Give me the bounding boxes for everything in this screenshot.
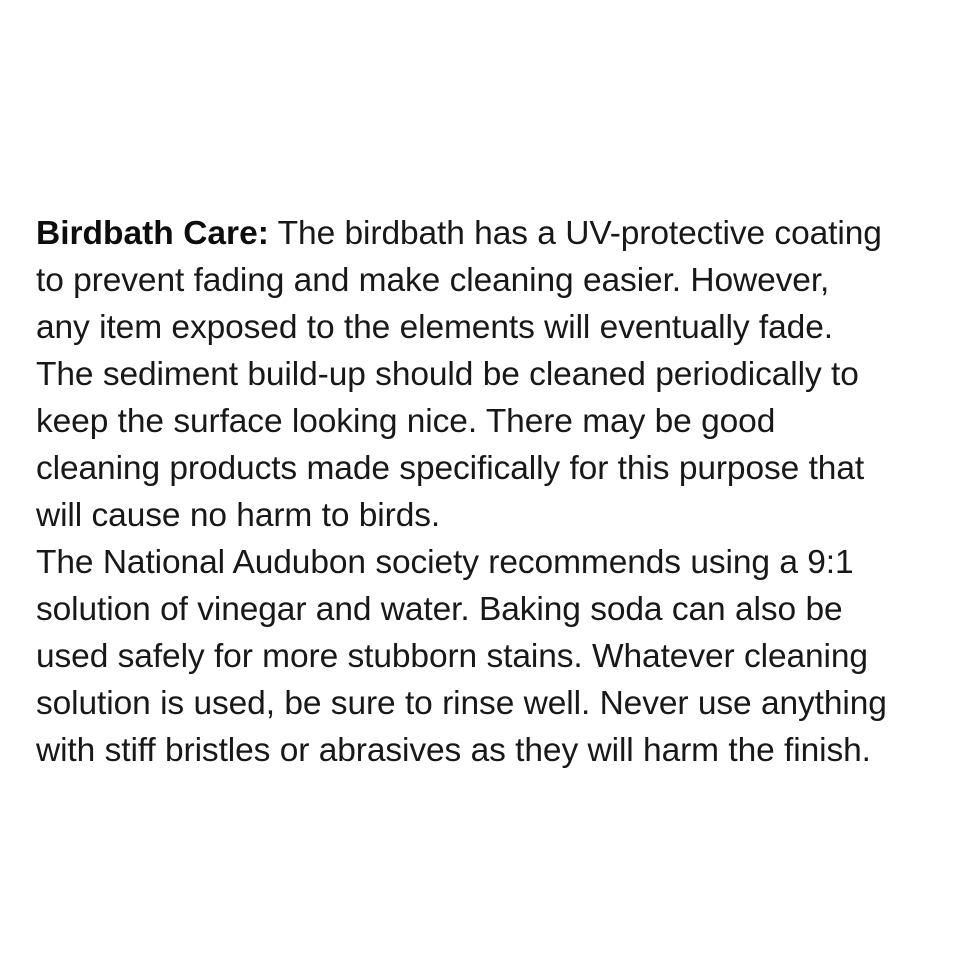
care-lead-in-label: Birdbath Care:: [36, 215, 269, 252]
text-line: cleaning products made specifically for …: [36, 445, 936, 492]
paragraph-birdbath-care: Birdbath Care:Birdbath Care: The birdbat…: [36, 210, 936, 539]
text-line: any item exposed to the elements will ev…: [36, 304, 936, 351]
text-line: The sediment build-up should be cleaned …: [36, 351, 936, 398]
text-line: Birdbath Care:Birdbath Care: The birdbat…: [36, 210, 936, 257]
text-line: with stiff bristles or abrasives as they…: [36, 727, 936, 774]
document-page: Birdbath Care:Birdbath Care: The birdbat…: [0, 0, 960, 960]
text-line: keep the surface looking nice. There may…: [36, 398, 936, 445]
care-instructions-block: Birdbath Care:Birdbath Care: The birdbat…: [36, 210, 936, 774]
text-line: The National Audubon society recommends …: [36, 539, 936, 586]
paragraph-audubon-cleaning-solution: The National Audubon society recommends …: [36, 539, 936, 774]
text-line: solution is used, be sure to rinse well.…: [36, 680, 936, 727]
text-line: will cause no harm to birds.: [36, 492, 936, 539]
text-line: solution of vinegar and water. Baking so…: [36, 586, 936, 633]
text-line: to prevent fading and make cleaning easi…: [36, 257, 936, 304]
text-line: used safely for more stubborn stains. Wh…: [36, 633, 936, 680]
